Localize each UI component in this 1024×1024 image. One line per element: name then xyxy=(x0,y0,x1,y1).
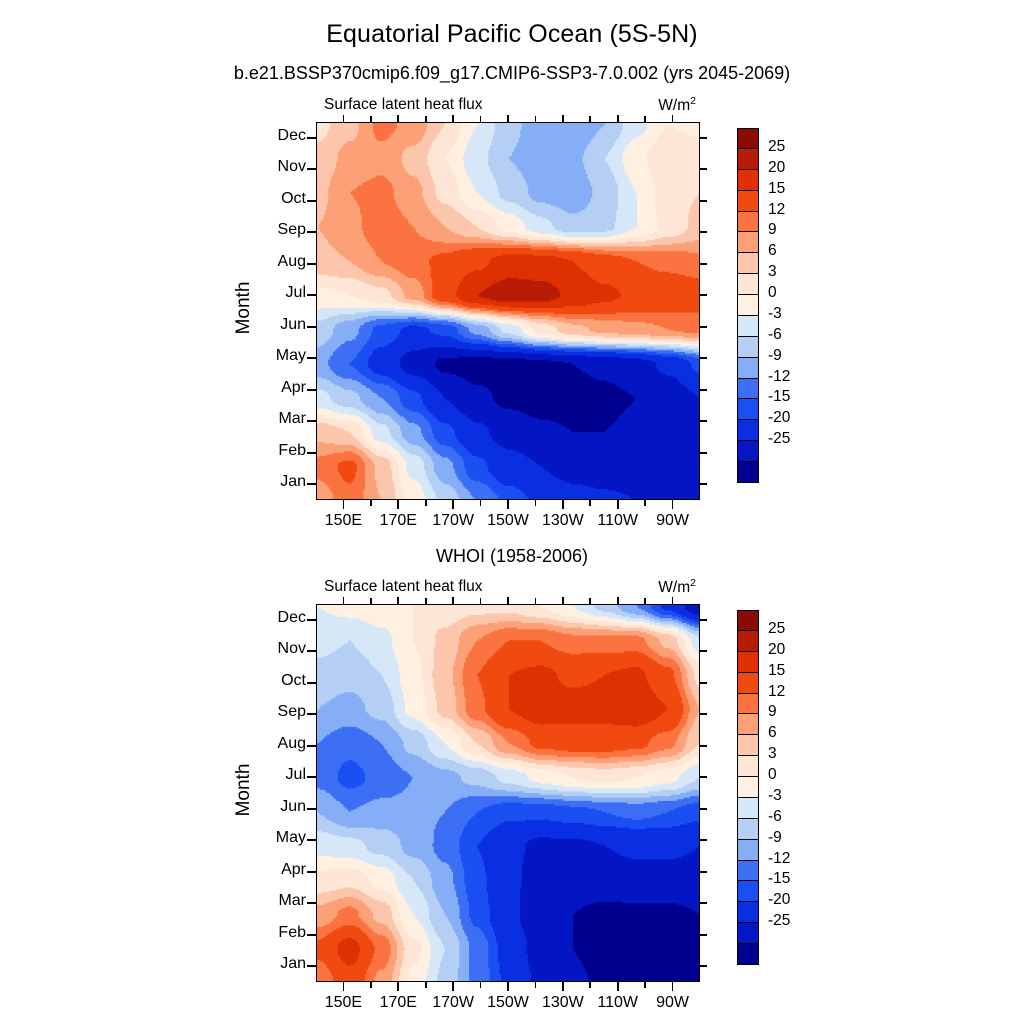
xtick-minor-top xyxy=(425,598,427,604)
ytick-mark-apr xyxy=(307,871,316,873)
colorbar-band-11 xyxy=(737,358,759,379)
colorbar-label-15: 15 xyxy=(768,180,785,198)
ytick-label-feb: Feb xyxy=(250,924,306,942)
colorbar-label-3: 3 xyxy=(768,263,777,281)
xtick-mark-170w xyxy=(452,982,454,991)
colorbar-band-15 xyxy=(737,441,759,462)
xtick-mark-150w xyxy=(507,982,509,991)
colorbar-label-neg20: -20 xyxy=(768,409,790,427)
colorbar-band-0 xyxy=(737,610,759,631)
ytick-label-mar: Mar xyxy=(250,410,306,428)
colorbar-band-1 xyxy=(737,149,759,170)
panel1-subtitle: b.e21.BSSP370cmip6.f09_g17.CMIP6-SSP3-7.… xyxy=(0,63,1024,84)
xtick-minor-top xyxy=(589,116,591,122)
panel2-units-exponent: 2 xyxy=(690,577,696,589)
colorbar-label-20: 20 xyxy=(768,641,785,659)
xtick-mark-150w xyxy=(507,500,509,509)
ytick-mark-inner-sep xyxy=(700,231,707,233)
colorbar-label-0: 0 xyxy=(768,766,777,784)
xtick-mark-top-90w xyxy=(672,115,674,122)
colorbar-band-12 xyxy=(737,861,759,882)
panel1-variable-label: Surface latent heat flux xyxy=(324,96,483,114)
xtick-mark-top-170e xyxy=(397,597,399,604)
ytick-label-oct: Oct xyxy=(250,672,306,690)
colorbar-band-13 xyxy=(737,881,759,902)
xtick-mark-top-170e xyxy=(397,115,399,122)
ytick-mark-sep xyxy=(307,231,316,233)
xtick-minor xyxy=(535,982,537,988)
ytick-mark-inner-feb xyxy=(700,934,707,936)
ytick-label-sep: Sep xyxy=(250,221,306,239)
xtick-mark-110w xyxy=(617,982,619,991)
panel2-units-text: W/m xyxy=(658,579,690,596)
ytick-mark-inner-may xyxy=(700,839,707,841)
ytick-mark-may xyxy=(307,357,316,359)
ytick-mark-inner-jun xyxy=(700,808,707,810)
ytick-mark-jul xyxy=(307,776,316,778)
ytick-mark-jun xyxy=(307,326,316,328)
ytick-mark-inner-aug xyxy=(700,263,707,265)
ytick-mark-inner-jul xyxy=(700,776,707,778)
ytick-mark-inner-oct xyxy=(700,682,707,684)
colorbar-band-5 xyxy=(737,714,759,735)
xtick-minor-top xyxy=(425,116,427,122)
ytick-mark-dec xyxy=(307,137,316,139)
colorbar-label-neg12: -12 xyxy=(768,850,790,868)
ytick-mark-nov xyxy=(307,650,316,652)
xtick-minor-top xyxy=(370,116,372,122)
xtick-minor xyxy=(480,982,482,988)
ytick-mark-inner-jul xyxy=(700,294,707,296)
xtick-mark-top-170w xyxy=(452,597,454,604)
ytick-mark-jul xyxy=(307,294,316,296)
ytick-mark-jan xyxy=(307,483,316,485)
colorbar-label-9: 9 xyxy=(768,703,777,721)
ytick-mark-inner-apr xyxy=(700,389,707,391)
xtick-minor xyxy=(644,982,646,988)
colorbar-label-neg6: -6 xyxy=(768,326,782,344)
colorbar-band-9 xyxy=(737,798,759,819)
panel2-variable-label: Surface latent heat flux xyxy=(324,578,483,596)
colorbar-label-6: 6 xyxy=(768,242,777,260)
ytick-mark-inner-mar xyxy=(700,902,707,904)
colorbar-label-6: 6 xyxy=(768,724,777,742)
xtick-minor xyxy=(589,500,591,506)
ytick-mark-inner-mar xyxy=(700,420,707,422)
xtick-minor-top xyxy=(480,598,482,604)
ytick-label-dec: Dec xyxy=(250,609,306,627)
ytick-mark-inner-jun xyxy=(700,326,707,328)
panel2-plot-area[interactable] xyxy=(316,604,700,982)
colorbar-band-9 xyxy=(737,316,759,337)
colorbar-band-4 xyxy=(737,212,759,233)
colorbar-label-20: 20 xyxy=(768,159,785,177)
ytick-label-jun: Jun xyxy=(250,316,306,334)
colorbar-label-neg3: -3 xyxy=(768,305,782,323)
xtick-minor xyxy=(644,500,646,506)
colorbar-panel1 xyxy=(737,128,759,483)
ytick-label-jul: Jul xyxy=(250,284,306,302)
ytick-mark-inner-nov xyxy=(700,650,707,652)
colorbar-band-4 xyxy=(737,694,759,715)
xtick-label-90w: 90W xyxy=(633,994,713,1012)
ytick-mark-inner-sep xyxy=(700,713,707,715)
xtick-minor-top xyxy=(589,598,591,604)
colorbar-band-3 xyxy=(737,673,759,694)
ytick-label-jan: Jan xyxy=(250,955,306,973)
xtick-minor xyxy=(370,500,372,506)
ytick-label-dec: Dec xyxy=(250,127,306,145)
xtick-minor xyxy=(425,500,427,506)
xtick-minor-top xyxy=(535,598,537,604)
panel1-units-text: W/m xyxy=(658,97,690,114)
ytick-label-apr: Apr xyxy=(250,861,306,879)
ytick-label-may: May xyxy=(250,347,306,365)
xtick-minor-top xyxy=(370,598,372,604)
colorbar-band-15 xyxy=(737,923,759,944)
colorbar-label-12: 12 xyxy=(768,683,785,701)
ytick-mark-inner-oct xyxy=(700,200,707,202)
ytick-label-aug: Aug xyxy=(250,735,306,753)
panel2-title: WHOI (1958-2006) xyxy=(0,546,1024,567)
panel1-units-label: W/m2 xyxy=(658,95,696,115)
ytick-label-nov: Nov xyxy=(250,158,306,176)
xtick-mark-90w xyxy=(672,500,674,509)
colorbar-band-14 xyxy=(737,902,759,923)
colorbar-label-neg12: -12 xyxy=(768,368,790,386)
axis-title-month: Month xyxy=(233,228,255,388)
colorbar-label-neg3: -3 xyxy=(768,787,782,805)
colorbar-band-6 xyxy=(737,253,759,274)
xtick-minor xyxy=(425,982,427,988)
ytick-mark-inner-dec xyxy=(700,619,707,621)
ytick-label-aug: Aug xyxy=(250,253,306,271)
xtick-label-90w: 90W xyxy=(633,512,713,530)
colorbar-band-10 xyxy=(737,337,759,358)
colorbar-band-14 xyxy=(737,420,759,441)
xtick-mark-top-150e xyxy=(343,597,345,604)
ytick-label-sep: Sep xyxy=(250,703,306,721)
xtick-mark-top-90w xyxy=(672,597,674,604)
xtick-mark-top-110w xyxy=(617,115,619,122)
ytick-mark-inner-nov xyxy=(700,168,707,170)
ytick-label-mar: Mar xyxy=(250,892,306,910)
xtick-mark-130w xyxy=(562,982,564,991)
ytick-label-jun: Jun xyxy=(250,798,306,816)
ytick-mark-inner-jan xyxy=(700,965,707,967)
xtick-mark-110w xyxy=(617,500,619,509)
colorbar-label-9: 9 xyxy=(768,221,777,239)
ytick-mark-apr xyxy=(307,389,316,391)
colorbar-band-10 xyxy=(737,819,759,840)
xtick-minor xyxy=(589,982,591,988)
xtick-mark-top-150e xyxy=(343,115,345,122)
xtick-mark-top-170w xyxy=(452,115,454,122)
panel1-plot-area[interactable] xyxy=(316,122,700,500)
xtick-mark-90w xyxy=(672,982,674,991)
ytick-label-jul: Jul xyxy=(250,766,306,784)
xtick-minor xyxy=(480,500,482,506)
xtick-mark-top-150w xyxy=(507,115,509,122)
ytick-mark-jan xyxy=(307,965,316,967)
colorbar-label-25: 25 xyxy=(768,138,785,156)
ytick-mark-oct xyxy=(307,682,316,684)
xtick-mark-150e xyxy=(343,500,345,509)
panel-whoi: Surface latent heat flux W/m2 xyxy=(316,604,700,982)
colorbar-band-11 xyxy=(737,840,759,861)
colorbar-band-1 xyxy=(737,631,759,652)
xtick-mark-150e xyxy=(343,982,345,991)
panel1-units-exponent: 2 xyxy=(690,95,696,107)
xtick-mark-170w xyxy=(452,500,454,509)
colorbar-label-neg6: -6 xyxy=(768,808,782,826)
colorbar-band-13 xyxy=(737,399,759,420)
xtick-minor-top xyxy=(644,598,646,604)
colorbar-panel2 xyxy=(737,610,759,965)
ytick-mark-oct xyxy=(307,200,316,202)
ytick-mark-inner-dec xyxy=(700,137,707,139)
xtick-minor-top xyxy=(535,116,537,122)
ytick-mark-mar xyxy=(307,902,316,904)
colorbar-band-7 xyxy=(737,274,759,295)
colorbar-band-16 xyxy=(737,944,759,965)
colorbar-label-12: 12 xyxy=(768,201,785,219)
colorbar-band-2 xyxy=(737,170,759,191)
colorbar-label-3: 3 xyxy=(768,745,777,763)
ytick-mark-feb xyxy=(307,452,316,454)
figure-root: Equatorial Pacific Ocean (5S-5N) b.e21.B… xyxy=(0,0,1024,1024)
xtick-mark-top-130w xyxy=(562,597,564,604)
panel-cesm2: Surface latent heat flux W/m2 xyxy=(316,122,700,500)
colorbar-label-25: 25 xyxy=(768,620,785,638)
xtick-mark-top-150w xyxy=(507,597,509,604)
colorbar-band-3 xyxy=(737,191,759,212)
axis-title-month: Month xyxy=(233,710,255,870)
ytick-label-apr: Apr xyxy=(250,379,306,397)
colorbar-band-2 xyxy=(737,652,759,673)
colorbar-label-neg25: -25 xyxy=(768,912,790,930)
xtick-minor xyxy=(535,500,537,506)
ytick-label-may: May xyxy=(250,829,306,847)
panel1-contour-field xyxy=(317,123,700,500)
ytick-label-feb: Feb xyxy=(250,442,306,460)
panel2-contour-field xyxy=(317,605,700,982)
colorbar-band-7 xyxy=(737,756,759,777)
colorbar-label-neg20: -20 xyxy=(768,891,790,909)
colorbar-band-16 xyxy=(737,462,759,483)
xtick-minor-top xyxy=(480,116,482,122)
ytick-label-jan: Jan xyxy=(250,473,306,491)
ytick-mark-inner-feb xyxy=(700,452,707,454)
colorbar-label-0: 0 xyxy=(768,284,777,302)
ytick-mark-may xyxy=(307,839,316,841)
xtick-minor xyxy=(370,982,372,988)
ytick-mark-aug xyxy=(307,745,316,747)
colorbar-band-12 xyxy=(737,379,759,400)
colorbar-label-neg9: -9 xyxy=(768,347,782,365)
xtick-mark-130w xyxy=(562,500,564,509)
xtick-mark-top-110w xyxy=(617,597,619,604)
colorbar-label-neg15: -15 xyxy=(768,870,790,888)
ytick-label-nov: Nov xyxy=(250,640,306,658)
colorbar-label-neg15: -15 xyxy=(768,388,790,406)
colorbar-band-8 xyxy=(737,295,759,316)
ytick-mark-sep xyxy=(307,713,316,715)
panel2-units-label: W/m2 xyxy=(658,577,696,597)
xtick-mark-170e xyxy=(397,500,399,509)
ytick-mark-jun xyxy=(307,808,316,810)
ytick-mark-dec xyxy=(307,619,316,621)
ytick-mark-mar xyxy=(307,420,316,422)
ytick-mark-inner-apr xyxy=(700,871,707,873)
ytick-mark-inner-aug xyxy=(700,745,707,747)
xtick-mark-top-130w xyxy=(562,115,564,122)
xtick-minor-top xyxy=(644,116,646,122)
ytick-mark-inner-may xyxy=(700,357,707,359)
colorbar-band-6 xyxy=(737,735,759,756)
xtick-mark-170e xyxy=(397,982,399,991)
colorbar-label-neg9: -9 xyxy=(768,829,782,847)
colorbar-label-neg25: -25 xyxy=(768,430,790,448)
ytick-mark-aug xyxy=(307,263,316,265)
colorbar-band-8 xyxy=(737,777,759,798)
ytick-mark-nov xyxy=(307,168,316,170)
ytick-mark-feb xyxy=(307,934,316,936)
colorbar-label-15: 15 xyxy=(768,662,785,680)
colorbar-band-0 xyxy=(737,128,759,149)
colorbar-band-5 xyxy=(737,232,759,253)
ytick-label-oct: Oct xyxy=(250,190,306,208)
ytick-mark-inner-jan xyxy=(700,483,707,485)
main-title: Equatorial Pacific Ocean (5S-5N) xyxy=(0,20,1024,49)
